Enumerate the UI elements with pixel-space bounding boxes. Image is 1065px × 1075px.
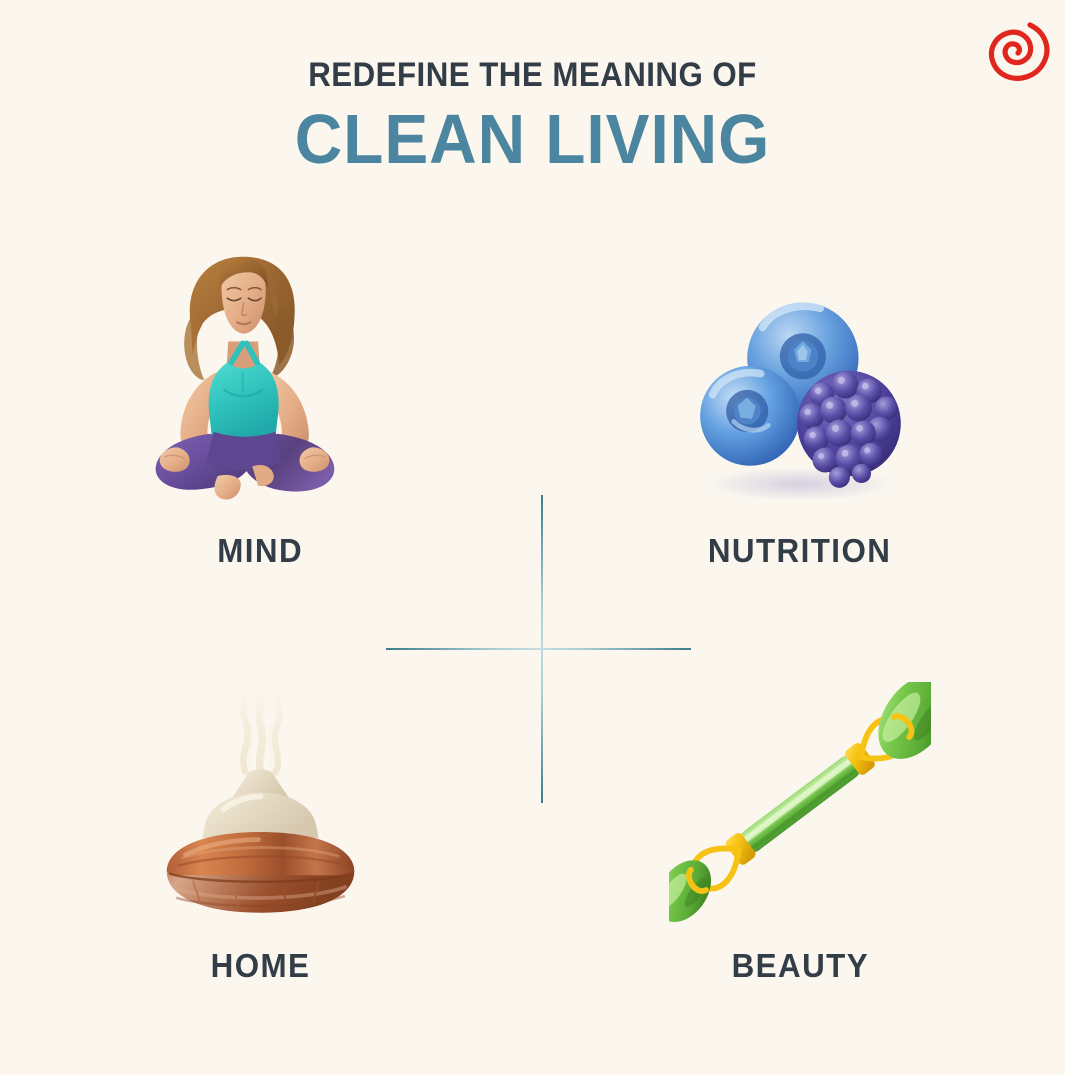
quadrant-label-beauty: BEAUTY xyxy=(731,947,868,985)
headline-line-2: CLEAN LIVING xyxy=(32,104,1033,174)
quadrant-label-mind: MIND xyxy=(217,532,303,570)
headline-block: REDEFINE THE MEANING OF CLEAN LIVING xyxy=(0,58,1065,174)
beauty-illustration xyxy=(560,655,1040,925)
poster-canvas: REDEFINE THE MEANING OF CLEAN LIVING xyxy=(0,0,1065,1075)
red-spiral-logo-icon xyxy=(981,18,1051,88)
quadrant-mind[interactable]: MIND xyxy=(20,240,500,570)
meditating-woman-icon xyxy=(135,248,385,510)
brand-logo[interactable] xyxy=(981,18,1051,88)
quadrant-label-nutrition: NUTRITION xyxy=(708,532,891,570)
quadrant-label-home: HOME xyxy=(210,947,310,985)
headline-line-1: REDEFINE THE MEANING OF xyxy=(43,58,1023,92)
quadrant-nutrition[interactable]: NUTRITION xyxy=(560,240,1040,570)
home-illustration xyxy=(20,655,500,925)
oil-diffuser-icon xyxy=(148,667,373,925)
nutrition-illustration xyxy=(560,240,1040,510)
divider-horizontal xyxy=(386,648,691,650)
mind-illustration xyxy=(20,240,500,510)
quadrant-beauty[interactable]: BEAUTY xyxy=(560,655,1040,985)
berries-icon xyxy=(680,289,920,510)
quadrant-home[interactable]: HOME xyxy=(20,655,500,985)
jade-roller-icon xyxy=(669,682,931,925)
